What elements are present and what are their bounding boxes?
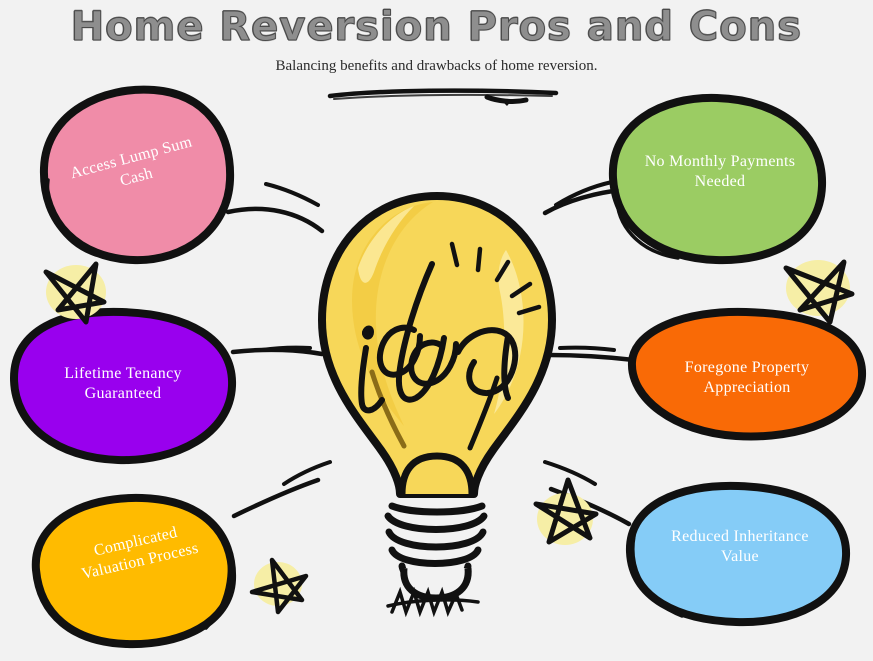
bubble-complicated-valuation-process[interactable] bbox=[34, 496, 234, 646]
star-bottom-center bbox=[536, 480, 596, 545]
connector-blue bbox=[551, 489, 629, 524]
bubble-access-lump-sum-cash[interactable] bbox=[44, 88, 234, 262]
connector-green bbox=[545, 190, 624, 213]
page-title: Home Reversion Pros and Cons bbox=[0, 4, 873, 50]
connector-amber bbox=[234, 480, 318, 516]
bubble-foregone-property-appreciation[interactable] bbox=[630, 310, 864, 438]
connector-orange bbox=[549, 355, 634, 360]
connector-lines bbox=[228, 190, 634, 524]
star-bottom-left bbox=[252, 560, 306, 612]
infographic-canvas: Home Reversion Pros and Cons Balancing b… bbox=[0, 0, 873, 661]
title-underline-stroke bbox=[330, 91, 556, 106]
page-subtitle: Balancing benefits and drawbacks of home… bbox=[0, 58, 873, 75]
bubble-lifetime-tenancy-guaranteed[interactable] bbox=[12, 310, 234, 462]
connector-pink bbox=[228, 209, 322, 231]
lightbulb-idea-icon bbox=[262, 182, 614, 612]
star-top-right bbox=[786, 260, 852, 322]
bubble-reduced-inheritance-value[interactable] bbox=[628, 484, 848, 624]
connector-purple bbox=[233, 350, 322, 354]
bubble-no-monthly-payments-needed[interactable] bbox=[612, 96, 824, 262]
